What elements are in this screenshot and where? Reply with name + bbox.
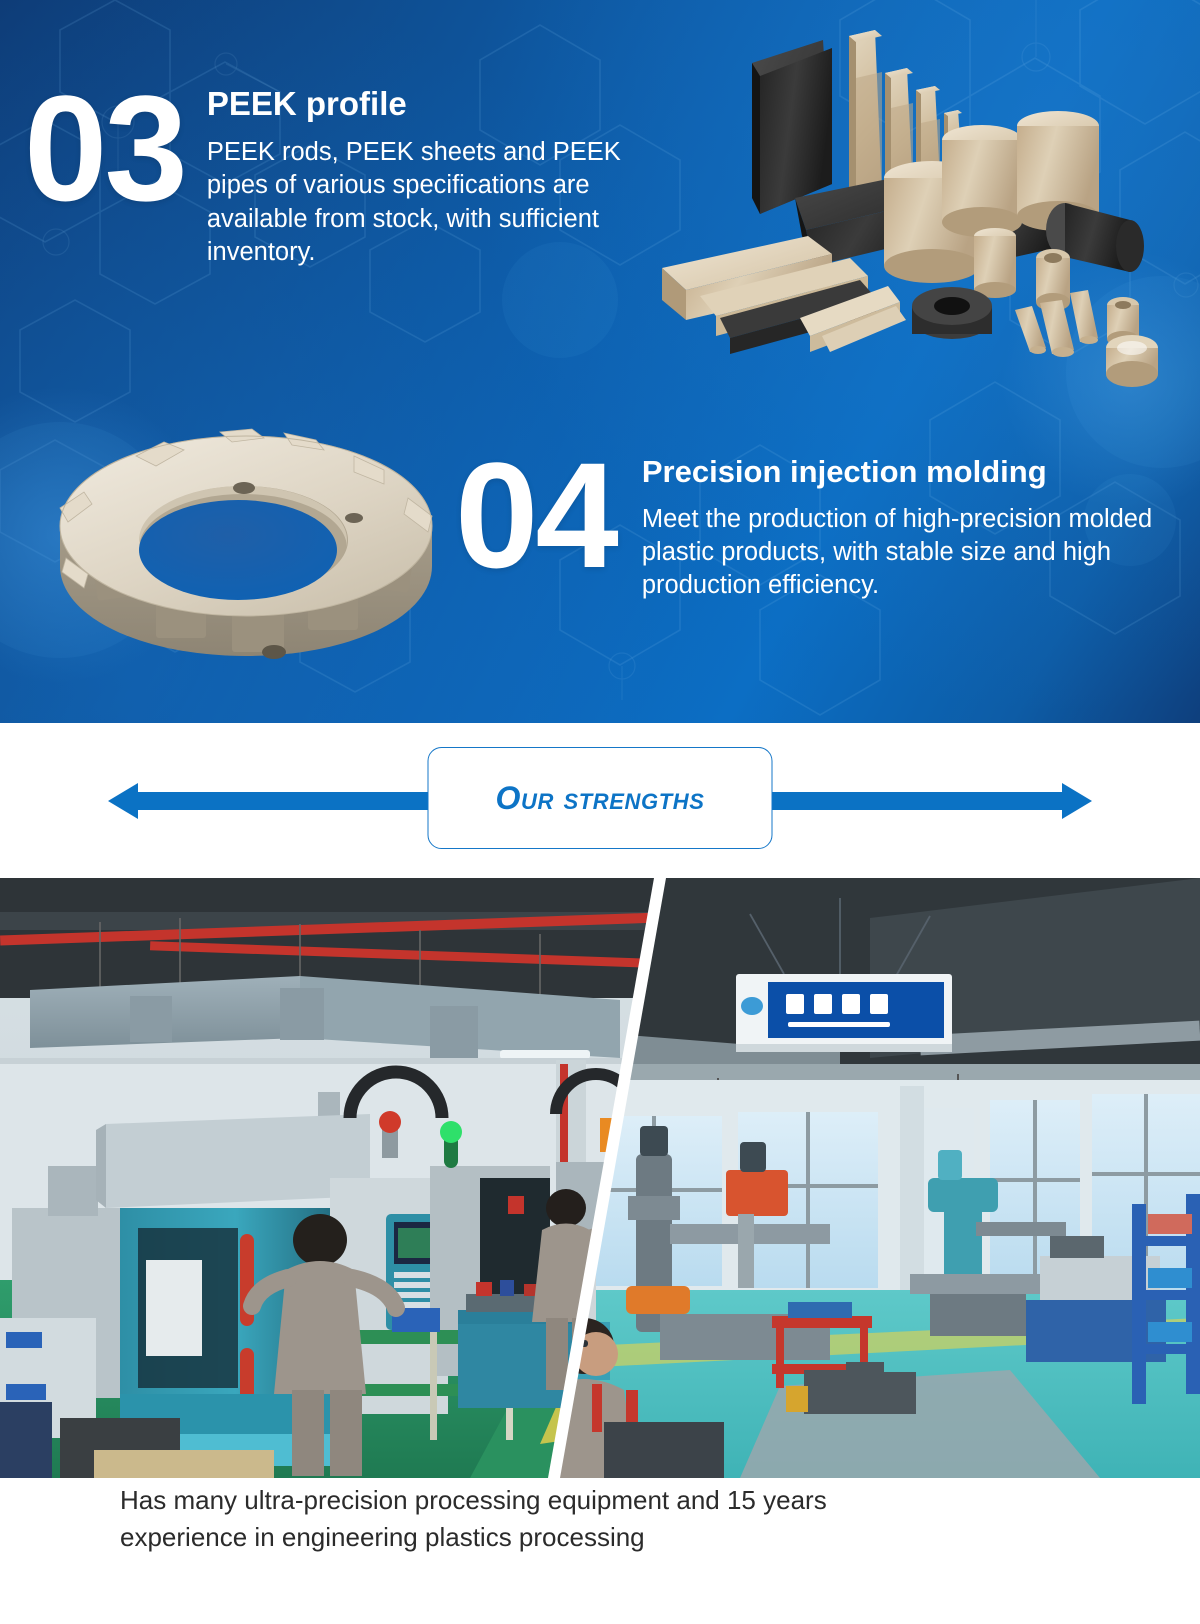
- workshop-photo-collage: [0, 878, 1200, 1478]
- black-peek-block: [752, 40, 832, 218]
- mold-workshop-sign: [736, 974, 952, 1052]
- feature-body-03: PEEK rods, PEEK sheets and PEEK pipes of…: [207, 136, 664, 269]
- feature-number-03: 03: [24, 82, 185, 214]
- feature-body-04: Meet the production of high-precision mo…: [642, 503, 1175, 602]
- tan-tube-3: [1106, 335, 1158, 387]
- our-strengths-box: Our strengths: [428, 747, 773, 849]
- feature-title-03: PEEK profile: [207, 86, 664, 122]
- peek-gear-ring-photo: [36, 398, 456, 688]
- gear-hole-front: [262, 645, 286, 659]
- black-ring: [912, 287, 992, 339]
- feature-block-03: 03 PEEK profile PEEK rods, PEEK sheets a…: [24, 74, 664, 269]
- peek-profiles-photo: [660, 18, 1200, 388]
- caption-line-2: experience in engineering plastics proce…: [120, 1519, 1080, 1556]
- feature-number-04: 04: [455, 449, 616, 581]
- arrow-right-icon: [742, 792, 1092, 810]
- gear-hole-right: [345, 513, 363, 523]
- feature-title-04: Precision injection molding: [642, 455, 1175, 489]
- caption-line-1: Has many ultra-precision processing equi…: [120, 1482, 1080, 1519]
- gear-hole-top: [233, 482, 255, 494]
- arrow-left-icon: [108, 792, 458, 810]
- tan-cylinder-small: [974, 228, 1016, 298]
- our-strengths-label: Our strengths: [495, 780, 704, 817]
- hero-panel: 03 PEEK profile PEEK rods, PEEK sheets a…: [0, 0, 1200, 723]
- our-strengths-banner: Our strengths: [0, 723, 1200, 878]
- cnc-machining-workshop-photo: [0, 878, 660, 1478]
- tan-cylinder-large-2: [942, 125, 1022, 237]
- bottom-caption: Has many ultra-precision processing equi…: [0, 1482, 1200, 1556]
- tan-sheet-stack: [662, 236, 906, 354]
- feature-block-04: 04 Precision injection molding Meet the …: [455, 443, 1175, 603]
